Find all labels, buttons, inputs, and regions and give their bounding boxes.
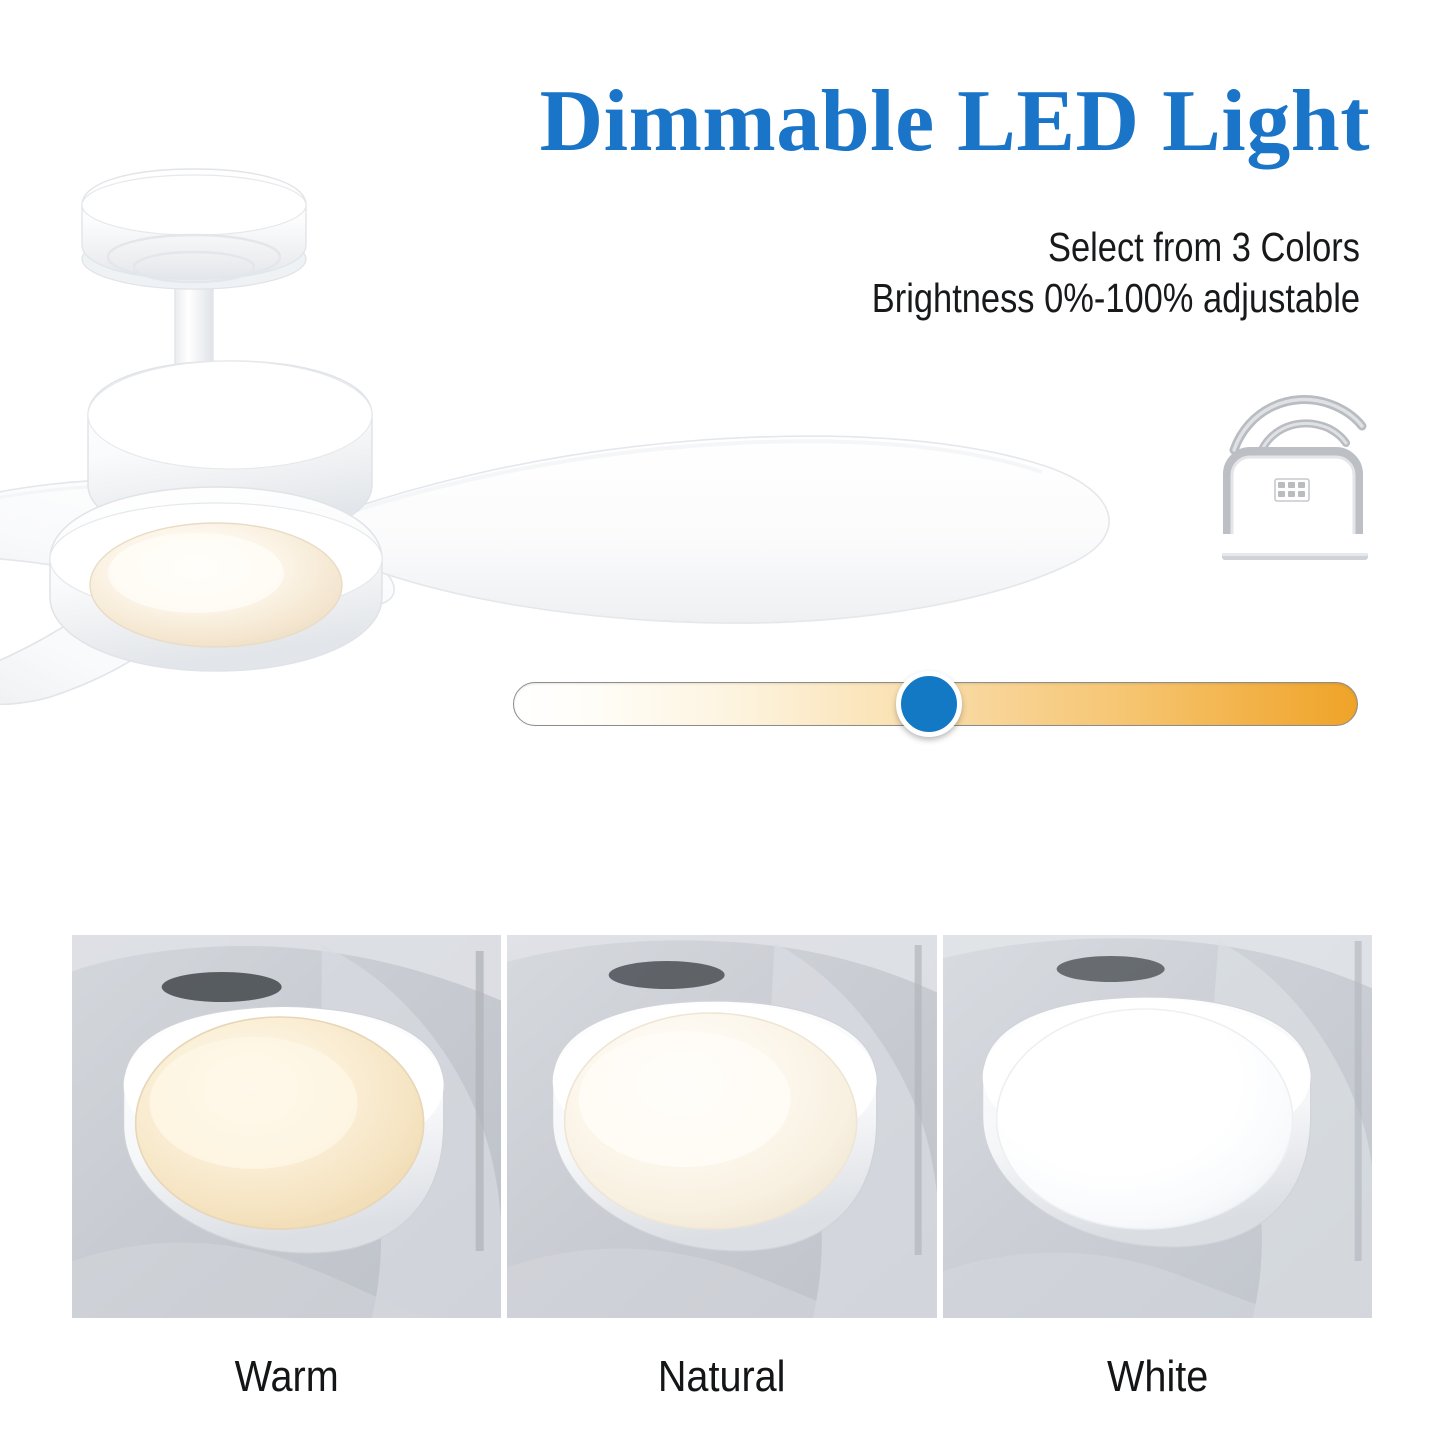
subtitle-brightness: Brightness 0%-100% adjustable [604, 275, 1360, 322]
color-sample-labels: Warm Natural White [72, 1345, 1372, 1415]
label-warm: Warm [93, 1345, 479, 1415]
brightness-slider[interactable] [513, 682, 1358, 726]
subtitle-colors: Select from 3 Colors [604, 224, 1360, 271]
color-sample-warm[interactable] [72, 935, 501, 1318]
page-title: Dimmable LED Light [450, 78, 1370, 166]
product-feature-card: Dimmable LED Light Select from 3 Colors … [0, 0, 1445, 1445]
color-sample-natural[interactable] [507, 935, 936, 1318]
color-sample-gallery [72, 935, 1372, 1318]
brightness-slider-knob[interactable] [896, 671, 962, 737]
label-white: White [964, 1345, 1350, 1415]
color-sample-white[interactable] [943, 935, 1372, 1318]
ceiling-fan-illustration [0, 85, 1190, 705]
label-natural: Natural [529, 1345, 915, 1415]
remote-control-signal-icon [1212, 382, 1377, 572]
